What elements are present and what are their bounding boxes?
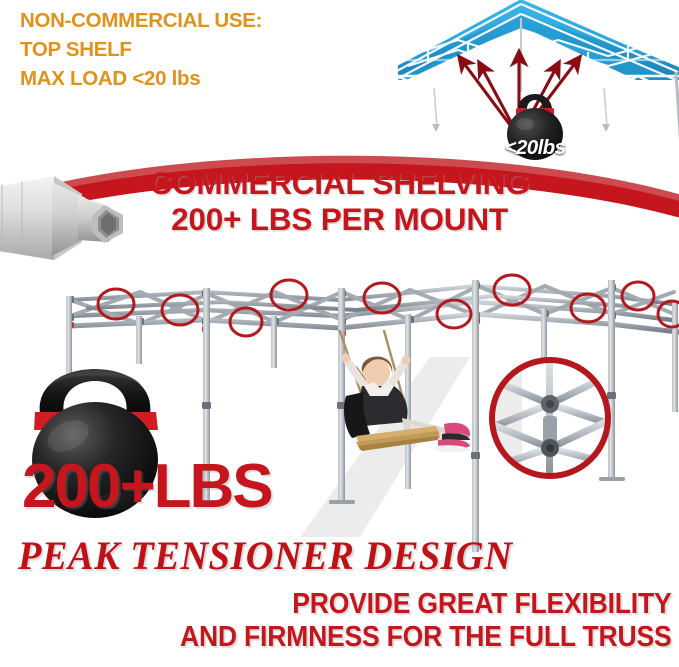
benefit-text: PROVIDE GREAT FLEXIBILITY AND FIRMNESS F… — [143, 588, 671, 654]
product-infographic-poster: <20lbs — [0, 0, 679, 667]
warning-line-1: NON-COMMERCIAL USE: — [20, 6, 262, 35]
peak-tensioner-detail-circle — [484, 352, 616, 484]
non-commercial-warning: NON-COMMERCIAL USE: TOP SHELF MAX LOAD <… — [20, 6, 262, 93]
headline-line-1: COMMERCIAL SHELVING — [0, 166, 679, 201]
headline-line-2: 200+ LBS PER MOUNT — [0, 201, 679, 238]
benefit-line-1: PROVIDE GREAT FLEXIBILITY — [180, 588, 671, 621]
headline: COMMERCIAL SHELVING 200+ LBS PER MOUNT — [0, 166, 679, 238]
warning-line-3: MAX LOAD <20 lbs — [20, 64, 262, 93]
peak-tensioner-title: PEAK TENSIONER DESIGN — [18, 535, 512, 577]
girl-on-swing-photo — [318, 330, 483, 470]
warning-line-2: TOP SHELF — [20, 35, 262, 64]
benefit-line-2: AND FIRMNESS FOR THE FULL TRUSS — [180, 621, 671, 654]
weight-limit-label: <20lbs — [487, 136, 583, 164]
load-rating-headline: 200+LBS — [22, 456, 272, 518]
